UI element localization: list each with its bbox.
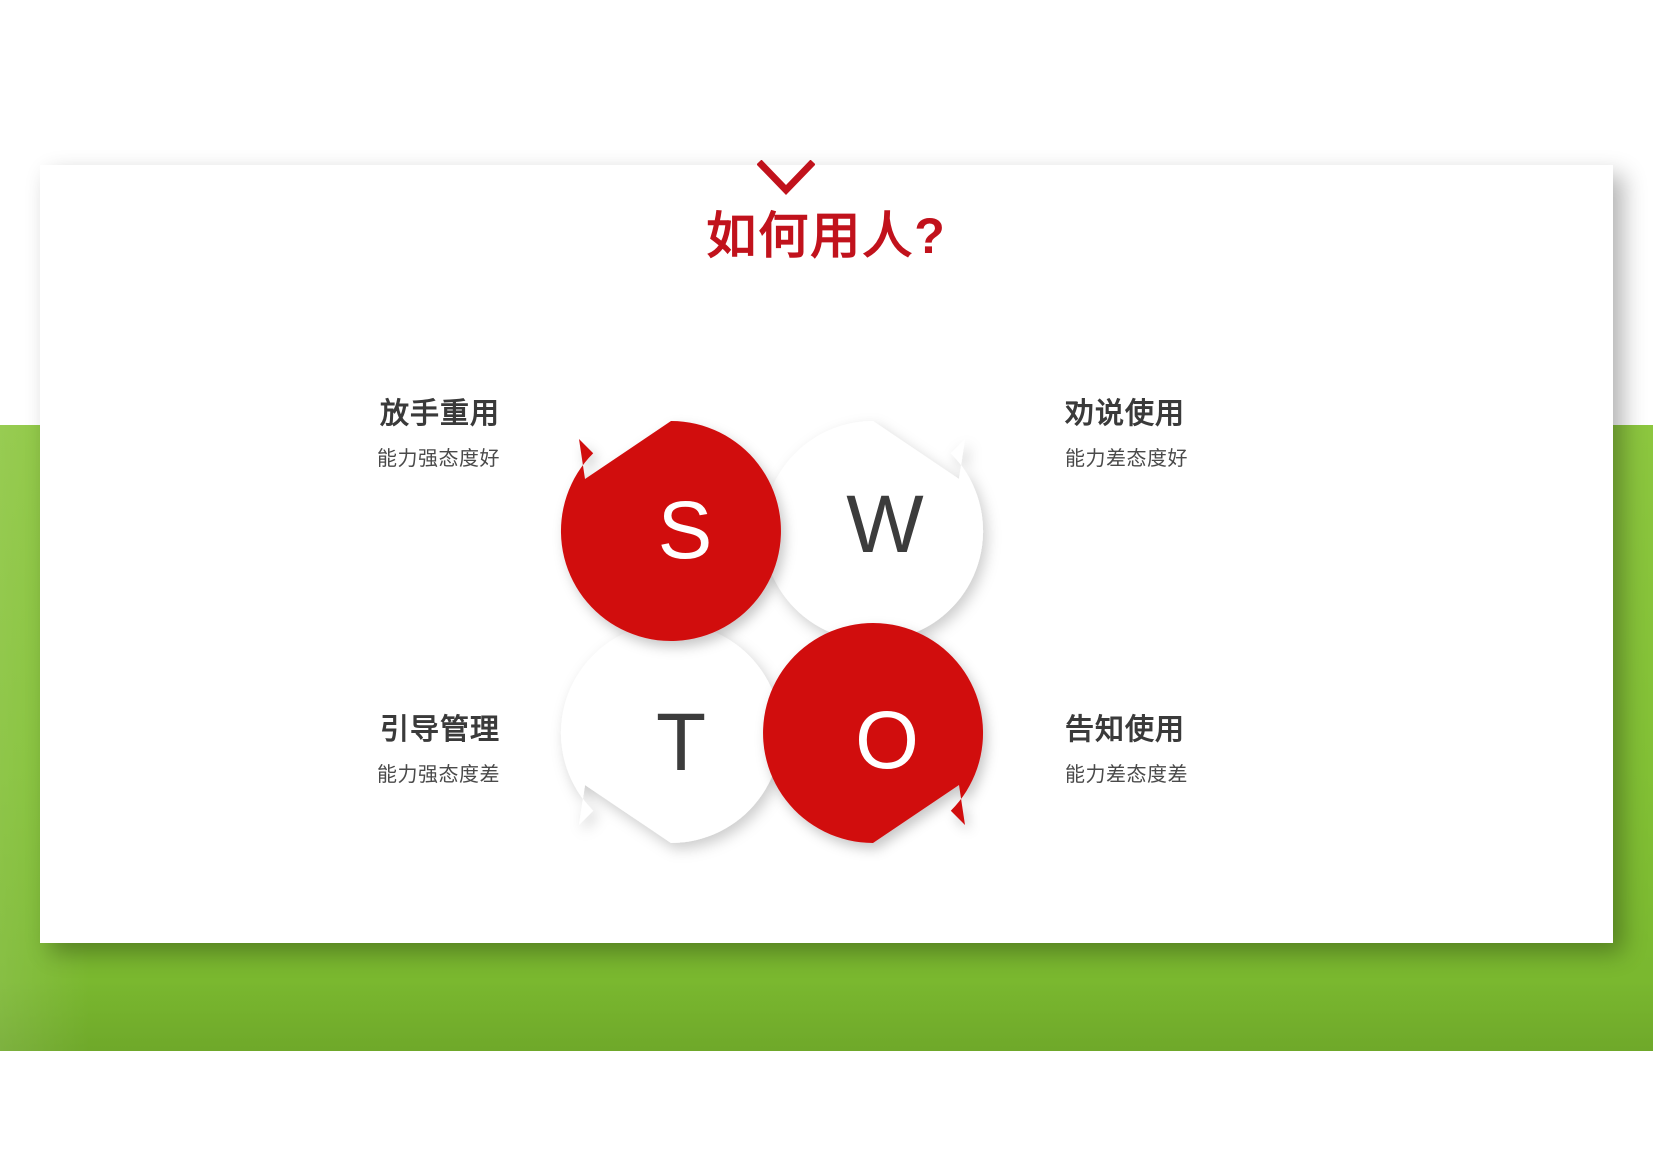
label-bottom-left-subtitle: 能力强态度差 — [377, 762, 500, 788]
swot-bubble-cluster: S W T — [555, 415, 1015, 865]
page-title: 如何用人? — [0, 206, 1653, 266]
label-bottom-left-title: 引导管理 — [377, 712, 500, 748]
label-bottom-left: 引导管理 能力强态度差 — [377, 712, 500, 788]
label-top-left-subtitle: 能力强态度好 — [377, 446, 500, 472]
bubble-s-letter: S — [569, 415, 801, 647]
bubble-t[interactable]: T — [555, 617, 787, 849]
label-top-right-title: 劝说使用 — [1065, 396, 1188, 432]
bubble-o[interactable]: O — [757, 617, 989, 849]
label-bottom-right-subtitle: 能力差态度差 — [1065, 762, 1188, 788]
chevron-down-icon — [757, 160, 815, 196]
bubble-w-letter: W — [769, 409, 1001, 641]
label-bottom-right: 告知使用 能力差态度差 — [1065, 712, 1188, 788]
label-bottom-right-title: 告知使用 — [1065, 712, 1188, 748]
bubble-s[interactable]: S — [555, 415, 787, 647]
label-top-left-title: 放手重用 — [377, 396, 500, 432]
label-top-right-subtitle: 能力差态度好 — [1065, 446, 1188, 472]
bubble-o-letter: O — [771, 625, 1003, 857]
label-top-left: 放手重用 能力强态度好 — [377, 396, 500, 472]
label-top-right: 劝说使用 能力差态度好 — [1065, 396, 1188, 472]
